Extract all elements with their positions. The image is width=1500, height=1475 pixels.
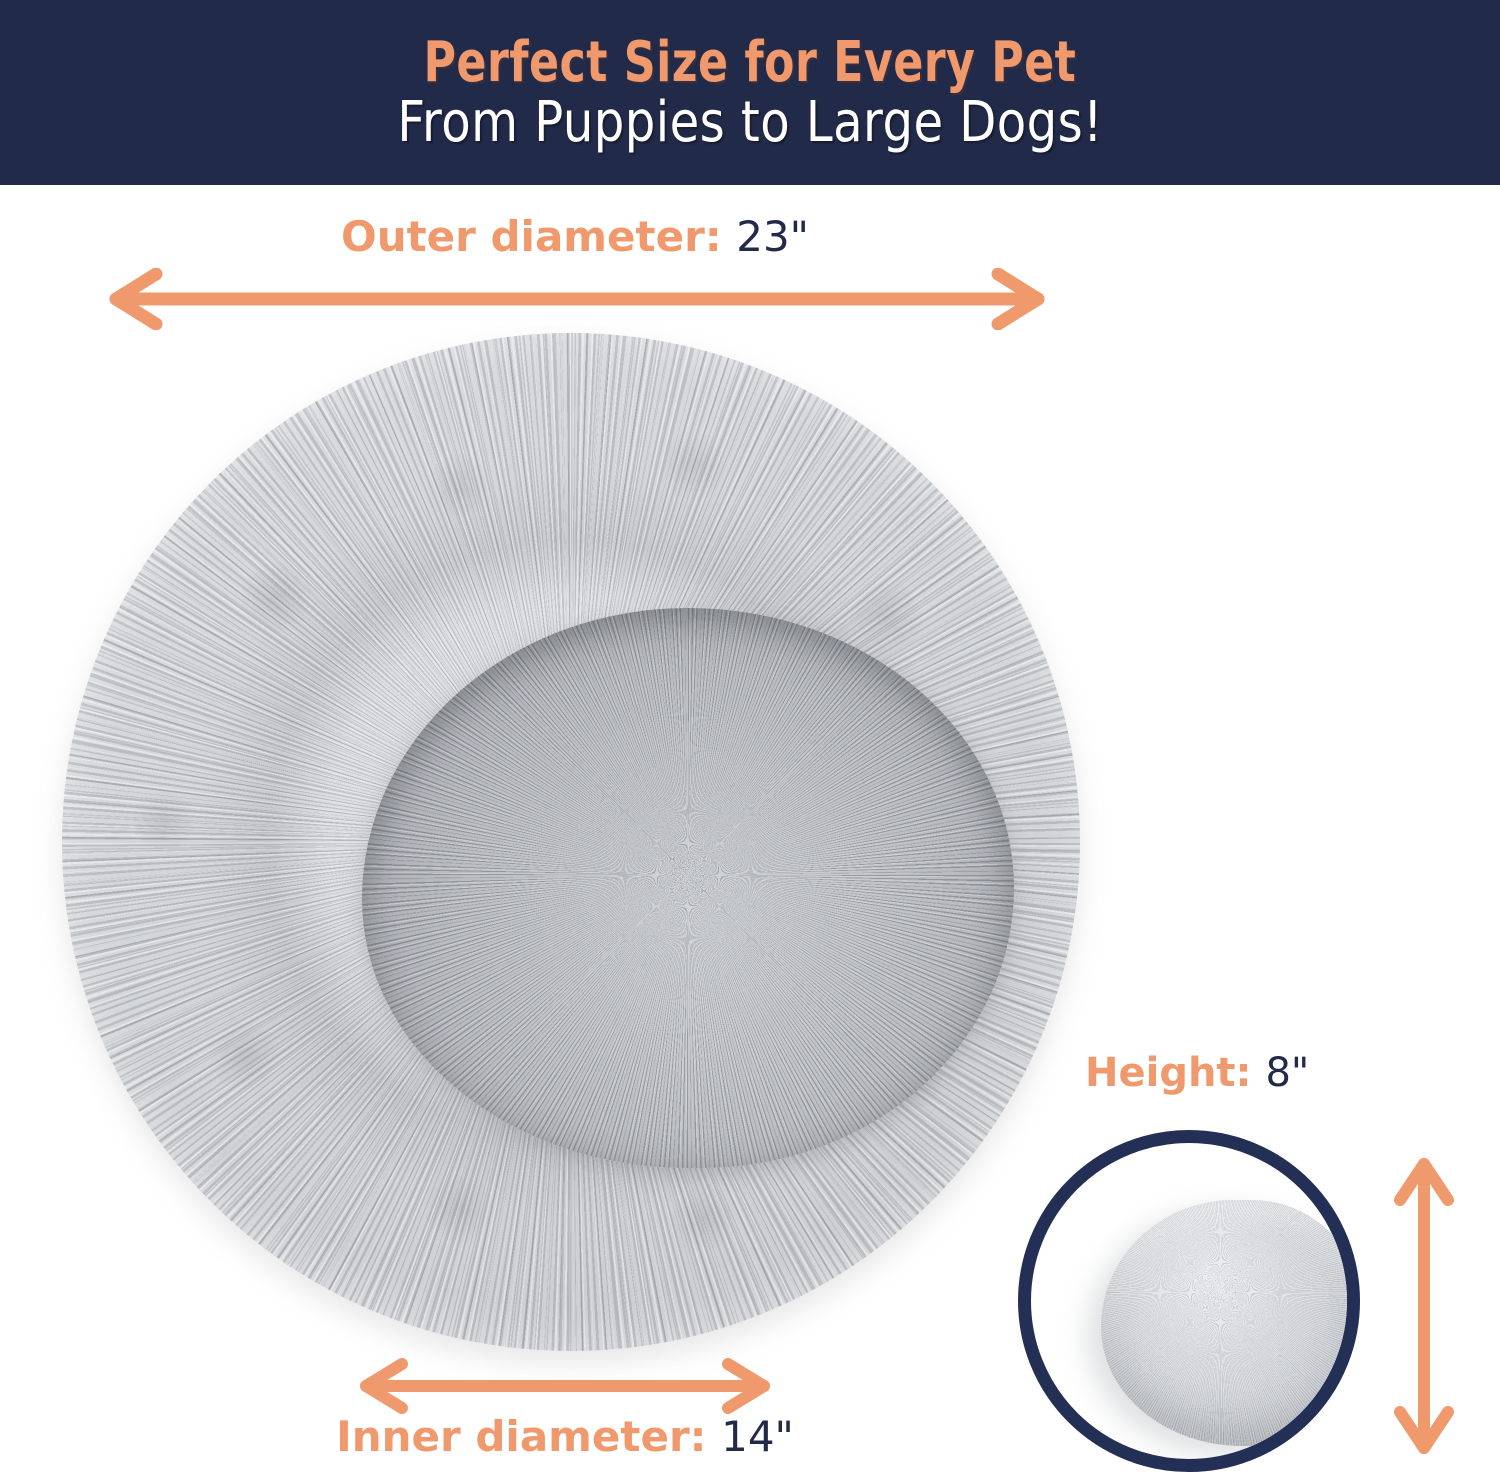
pet-bed-top-view (62, 333, 1080, 1351)
outer-diameter-value: 23" (736, 212, 809, 261)
outer-diameter-label-text: Outer diameter: (341, 212, 736, 261)
header-banner: Perfect Size for Every Pet From Puppies … (0, 0, 1500, 185)
height-label: Height: 8" (1085, 1050, 1485, 1096)
bed-outer-rim (62, 333, 1080, 1351)
header-title-secondary: From Puppies to Large Dogs! (397, 95, 1102, 151)
pet-bed-side-view (1101, 1200, 1360, 1446)
header-title-primary: Perfect Size for Every Pet (424, 35, 1077, 91)
inner-diameter-value: 14" (721, 1412, 794, 1461)
side-fur-texture-highlight (1101, 1200, 1360, 1446)
height-label-text: Height: (1085, 1050, 1265, 1096)
outer-diameter-label: Outer diameter: 23" (0, 212, 1150, 261)
pet-bed-side-view-circle (1018, 1130, 1360, 1472)
outer-diameter-arrow-icon (82, 268, 1072, 330)
height-value: 8" (1265, 1050, 1309, 1096)
inner-diameter-label: Inner diameter: 14" (0, 1412, 1130, 1461)
inner-diameter-label-text: Inner diameter: (336, 1412, 721, 1461)
bed-inner-cavity (362, 608, 1014, 1168)
inner-fur-texture-highlight (362, 608, 1014, 1168)
inner-diameter-arrow-icon (340, 1358, 790, 1414)
height-arrow-icon (1388, 1146, 1460, 1466)
